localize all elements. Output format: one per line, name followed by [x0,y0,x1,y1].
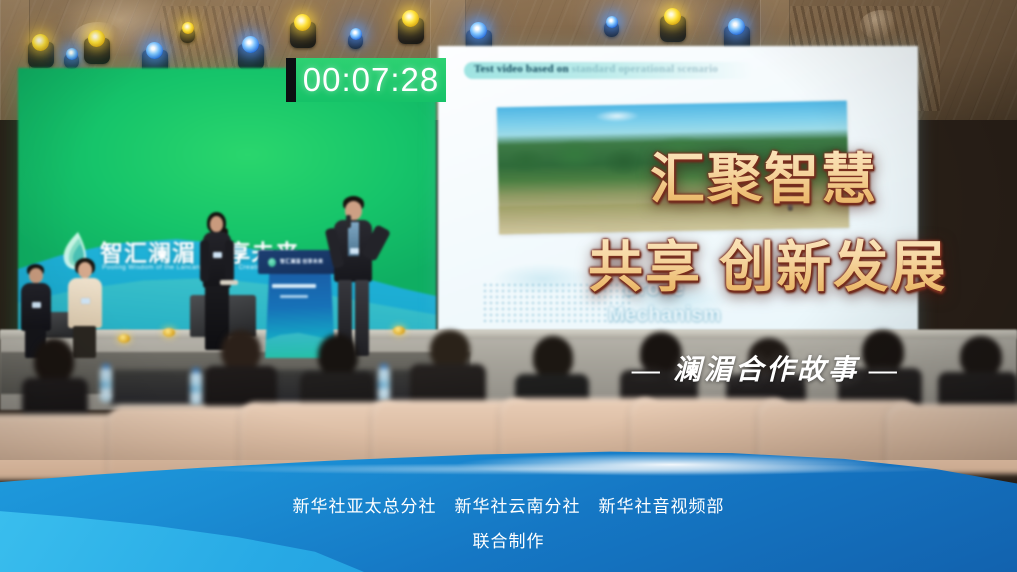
audience-hair [960,336,1002,376]
staff-badge [32,302,41,308]
audience-hair [862,330,904,372]
credits-block: 新华社亚太总分社新华社云南分社新华社音视频部 联合制作 [0,492,1017,552]
countdown-timer-panel: 00:07:28 [296,58,446,102]
stage-light-lamp [402,10,419,27]
timer-divider [286,58,296,102]
presenter-arm-left [200,240,209,282]
podium-panel-line2 [280,295,308,298]
water-bottle [378,368,390,402]
slide-heading-faded: standard operational scenario [572,63,718,75]
slide-photo-haze [595,110,639,123]
slide-heading: Test video based on standard operational… [474,63,718,75]
slide-photo-person [788,193,793,211]
bottle-label [378,381,390,389]
credits-org-name: 新华社亚太总分社 [293,497,437,516]
stage-light-lamp [32,34,49,51]
stage-light-lamp [66,48,78,60]
presenter-arm-right [225,240,234,282]
stage-floor-lamp [393,326,405,335]
audience-hair [640,332,682,374]
bottom-wave-band: 新华社亚太总分社新华社云南分社新华社音视频部 联合制作 [0,427,1017,572]
stage-light-lamp [88,30,105,47]
credits-line2: 联合制作 [0,527,1017,552]
podium-top-text: 智汇澜湄 创享未来 [280,258,323,265]
audience-hair [748,338,790,378]
stage-light-lamp [470,22,487,39]
audience-hair [430,330,470,368]
microphone-icon [346,215,351,228]
bottle-label [100,381,112,389]
stage-floor-lamp [118,334,130,343]
water-bottle [190,372,202,406]
bottle-cap [192,368,200,373]
stage-floor-lamp [163,328,175,337]
audience-hair [533,336,573,378]
podium-panel-line1 [272,284,316,288]
stage-light-lamp [294,14,311,31]
screenshot-root: 智汇澜湄 创享未来 Pooling Wisdom of the Lancang-… [0,0,1017,572]
presentation-screen-right: Test video based on standard operational… [438,46,918,358]
countdown-timer-value: 00:07:28 [303,61,439,99]
staff-head [78,262,92,278]
podium-logo-icon [268,258,276,267]
bottle-cap [380,364,388,369]
credits-line1: 新华社亚太总分社新华社云南分社新华社音视频部 [0,492,1017,517]
stage-light-lamp [182,22,194,34]
stage-light-lamp [146,42,163,59]
audience-hair [34,338,74,382]
stage-light-lamp [606,16,618,28]
slide-label-drone: Drone [624,278,684,301]
stage-light-lamp [728,18,745,35]
credits-org-name: 新华社云南分社 [455,497,581,516]
staff-badge [81,298,90,304]
water-bottle [100,368,112,402]
slide-label-mechanism: Mechanism [608,304,721,327]
audience-hair [221,330,261,370]
credits-org-name: 新华社音视频部 [599,497,725,516]
audience-hair [318,334,358,376]
stage-light-lamp [350,28,362,40]
slide-photo-treeline [497,134,848,194]
staff-head [29,268,43,283]
bottle-label [190,385,202,393]
presenter-held-card [220,280,238,285]
slide-photo-field [499,200,849,235]
slide-photo [497,101,849,235]
bottle-cap [102,364,110,369]
presenter-badge [350,248,359,254]
slide-heading-visible: Test video based on [474,63,569,75]
stage-light-lamp [242,36,259,53]
presenter-badge [213,252,222,258]
stage-light-lamp [664,8,681,25]
